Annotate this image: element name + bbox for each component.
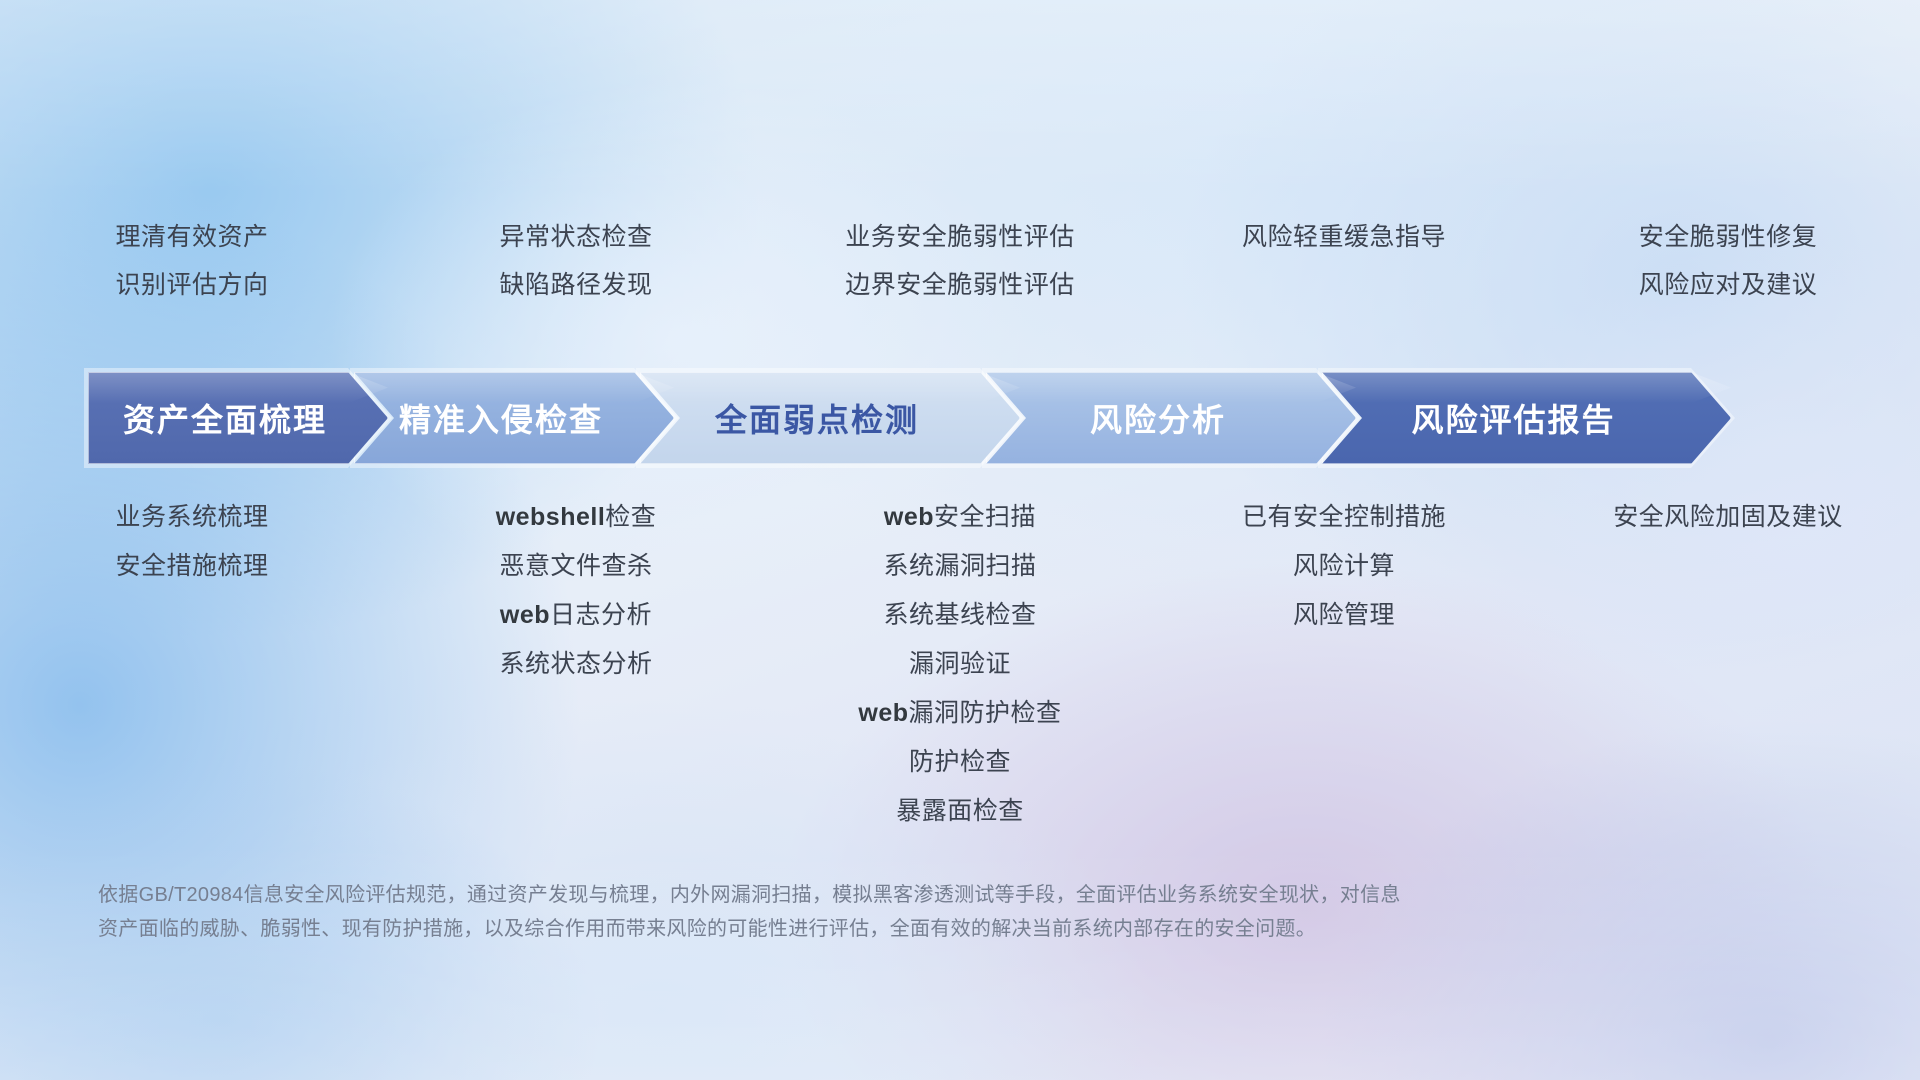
top-note: 业务安全脆弱性评估	[845, 225, 1075, 250]
chevron-stage-risk-analysis[interactable]: 风险分析	[986, 372, 1356, 464]
chevron-band: 资产全面梳理精准入侵检查全面弱点检测风险分析风险评估报告	[88, 372, 1833, 464]
detail-item: 系统基线检查	[883, 603, 1036, 628]
detail-item: 防护检查	[909, 750, 1011, 775]
top-note: 识别评估方向	[115, 273, 268, 298]
chevron-label-asset-inventory: 资产全面梳理	[88, 395, 388, 441]
chevron-stage-assessment-report[interactable]: 风险评估报告	[1322, 372, 1731, 464]
stage-top-notes-row: 理清有效资产识别评估方向异常状态检查缺陷路径发现业务安全脆弱性评估边界安全脆弱性…	[0, 225, 1920, 335]
process-diagram: 理清有效资产识别评估方向异常状态检查缺陷路径发现业务安全脆弱性评估边界安全脆弱性…	[0, 0, 1920, 1080]
footer-description: 依据GB/T20984信息安全风险评估规范，通过资产发现与梳理，内外网漏洞扫描，…	[98, 878, 1628, 947]
detail-item: 恶意文件查杀	[499, 554, 652, 579]
chevron-label-weakness-detection: 全面弱点检测	[640, 395, 1020, 441]
top-note: 理清有效资产	[115, 225, 268, 250]
detail-item: 安全风险加固及建议	[1613, 505, 1843, 530]
detail-item: webshell检查	[496, 505, 657, 530]
top-notes-column-assessment-report: 安全脆弱性修复风险应对及建议	[1536, 225, 1920, 335]
top-notes-column-intrusion-check: 异常状态检查缺陷路径发现	[384, 225, 768, 335]
detail-item: 漏洞验证	[909, 652, 1011, 677]
footer-line-2: 资产面临的威胁、脆弱性、现有防护措施，以及综合作用而带来风险的可能性进行评估，全…	[98, 912, 1628, 946]
detail-list-intrusion-check: webshell检查恶意文件查杀web日志分析系统状态分析	[384, 505, 768, 701]
chevron-stage-weakness-detection[interactable]: 全面弱点检测	[640, 372, 1020, 464]
top-note: 安全脆弱性修复	[1639, 225, 1818, 250]
detail-item: 风险管理	[1293, 603, 1395, 628]
detail-item: web安全扫描	[884, 505, 1036, 530]
stage-detail-lists-row: 业务系统梳理安全措施梳理webshell检查恶意文件查杀web日志分析系统状态分…	[0, 505, 1920, 848]
top-notes-column-weakness-detection: 业务安全脆弱性评估边界安全脆弱性评估	[768, 225, 1152, 335]
detail-item: 已有安全控制措施	[1242, 505, 1446, 530]
top-note: 异常状态检查	[499, 225, 652, 250]
detail-item: 风险计算	[1293, 554, 1395, 579]
detail-item: 系统状态分析	[499, 652, 652, 677]
detail-item: 系统漏洞扫描	[883, 554, 1036, 579]
top-notes-column-asset-inventory: 理清有效资产识别评估方向	[0, 225, 384, 335]
detail-list-asset-inventory: 业务系统梳理安全措施梳理	[0, 505, 384, 603]
top-note: 风险轻重缓急指导	[1242, 225, 1446, 250]
chevron-label-assessment-report: 风险评估报告	[1322, 395, 1731, 441]
chevron-label-intrusion-check: 精准入侵检查	[354, 395, 674, 441]
chevron-stage-asset-inventory[interactable]: 资产全面梳理	[88, 372, 388, 464]
chevron-label-risk-analysis: 风险分析	[986, 395, 1356, 441]
detail-item: web漏洞防护检查	[858, 701, 1061, 726]
detail-item: 暴露面检查	[896, 799, 1024, 824]
detail-item: 业务系统梳理	[115, 505, 268, 530]
top-note: 风险应对及建议	[1639, 273, 1818, 298]
detail-item: 安全措施梳理	[115, 554, 268, 579]
chevron-stage-intrusion-check[interactable]: 精准入侵检查	[354, 372, 674, 464]
top-note: 边界安全脆弱性评估	[845, 273, 1075, 298]
footer-line-1: 依据GB/T20984信息安全风险评估规范，通过资产发现与梳理，内外网漏洞扫描，…	[98, 878, 1628, 912]
detail-list-risk-analysis: 已有安全控制措施风险计算风险管理	[1152, 505, 1536, 652]
detail-list-weakness-detection: web安全扫描系统漏洞扫描系统基线检查漏洞验证web漏洞防护检查防护检查暴露面检…	[768, 505, 1152, 848]
top-note: 缺陷路径发现	[499, 273, 652, 298]
top-notes-column-risk-analysis: 风险轻重缓急指导	[1152, 225, 1536, 335]
detail-list-assessment-report: 安全风险加固及建议	[1536, 505, 1920, 554]
detail-item: web日志分析	[500, 603, 652, 628]
